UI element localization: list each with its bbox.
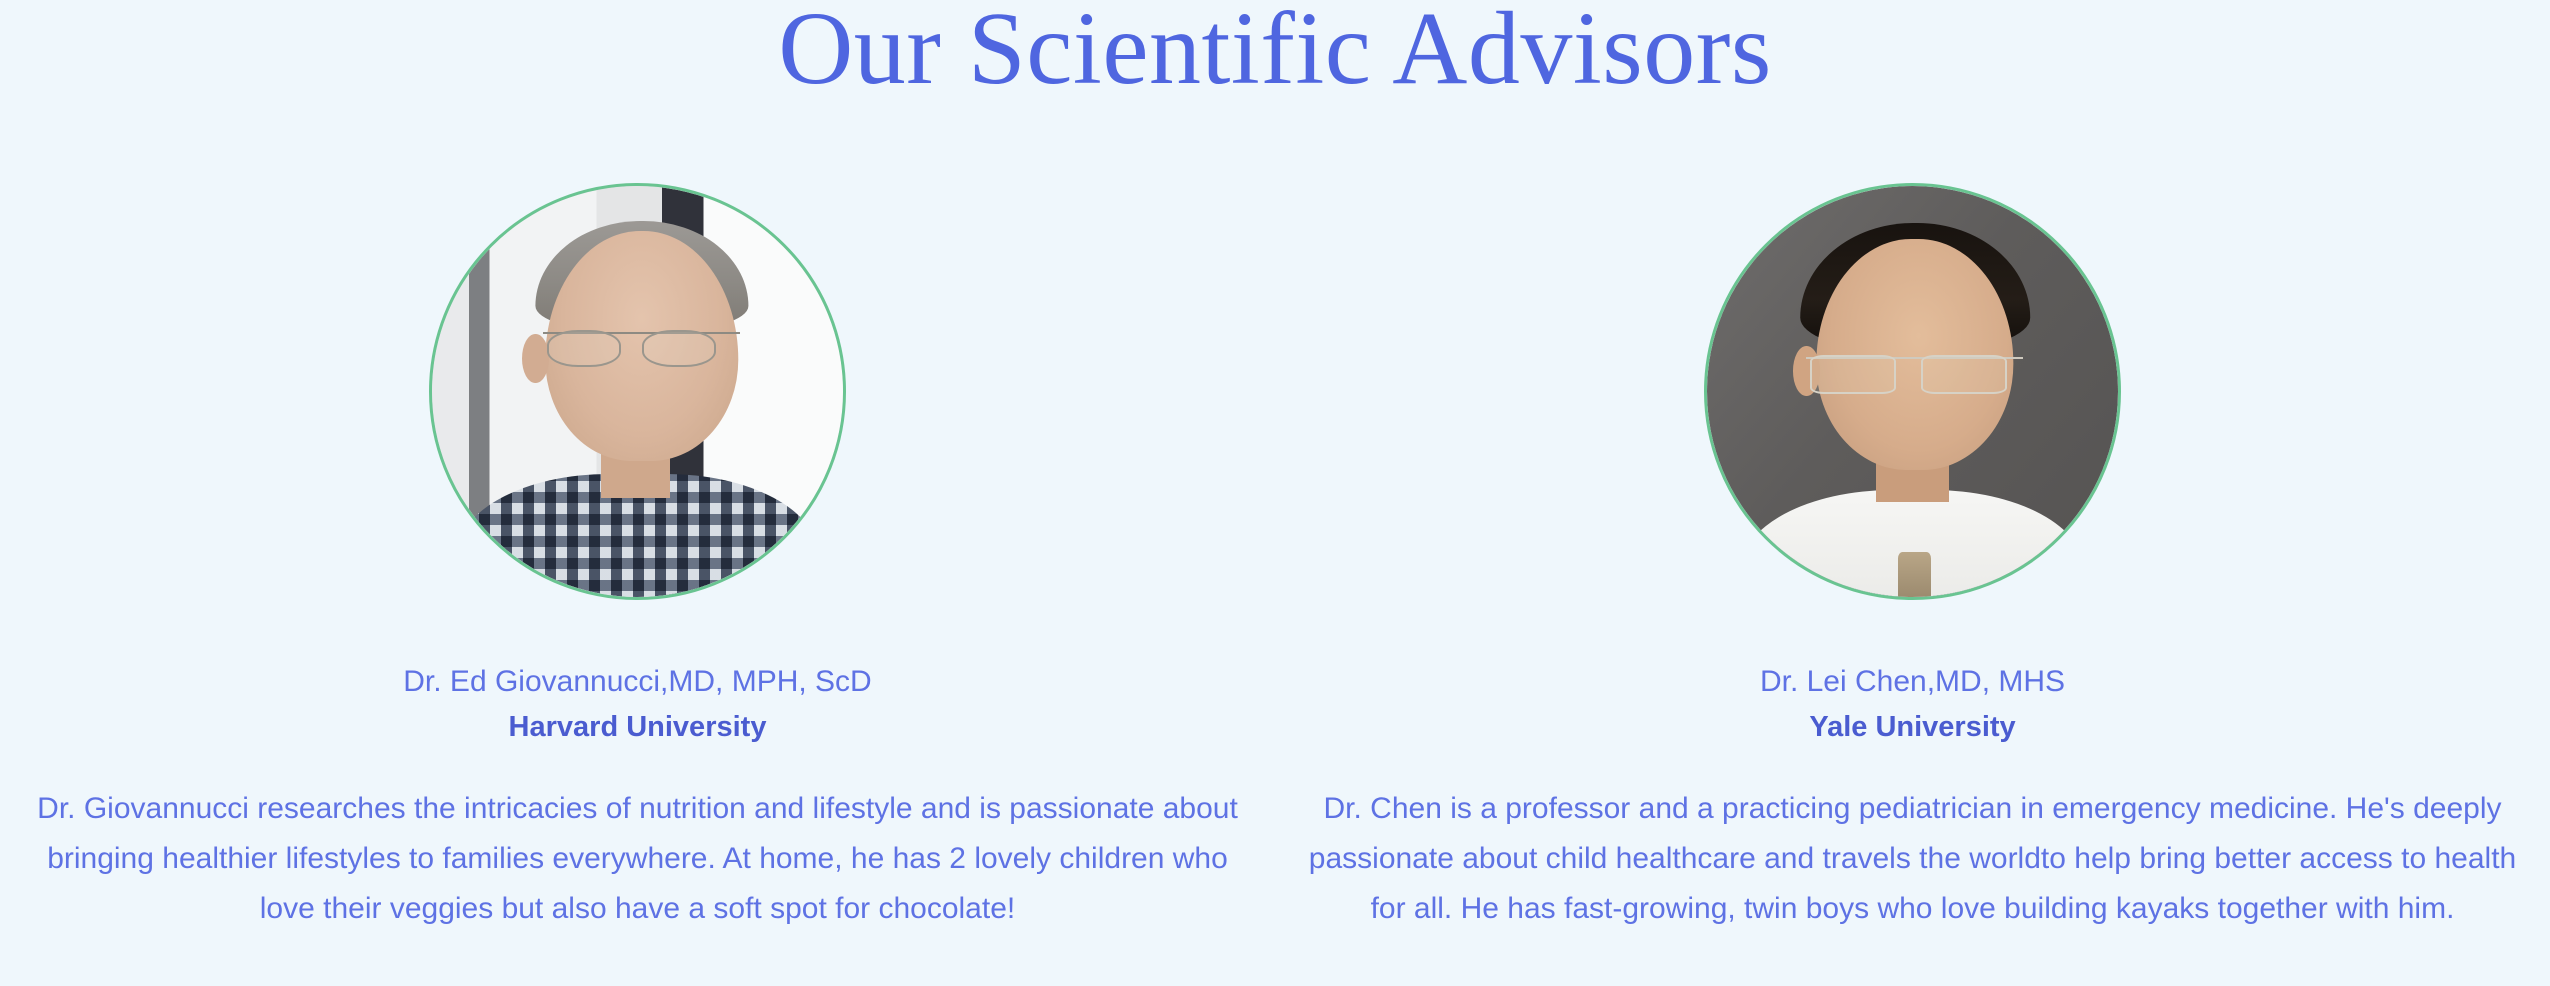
advisor-bio: Dr. Giovannucci researches the intricaci… (28, 784, 1248, 934)
eyeglass-lens-right (1921, 355, 2007, 394)
advisor-photo-image (1707, 186, 2118, 597)
advisor-card: Dr. Ed Giovannucci,MD, MPH, ScD Harvard … (0, 183, 1275, 934)
photo-necktie (1898, 552, 1931, 597)
scientific-advisors-section: Our Scientific Advisors Dr. Ed Giovannuc… (0, 0, 2550, 986)
eyeglass-lens-left (1810, 355, 1896, 394)
eyeglass-lens-left (547, 330, 621, 367)
advisor-university: Yale University (1809, 708, 2015, 746)
advisor-name: Dr. Lei Chen,MD, MHS (1760, 662, 2065, 702)
advisors-grid: Dr. Ed Giovannucci,MD, MPH, ScD Harvard … (0, 183, 2550, 934)
page-title: Our Scientific Advisors (0, 0, 2550, 104)
avatar (429, 183, 846, 600)
advisor-card: Dr. Lei Chen,MD, MHS Yale University Dr.… (1275, 183, 2550, 934)
eyeglass-lens-right (642, 330, 716, 367)
advisor-name: Dr. Ed Giovannucci,MD, MPH, ScD (403, 662, 871, 702)
advisor-photo-image (432, 186, 843, 597)
advisor-bio: Dr. Chen is a professor and a practicing… (1290, 784, 2535, 934)
advisor-university: Harvard University (509, 708, 767, 746)
avatar (1704, 183, 2121, 600)
